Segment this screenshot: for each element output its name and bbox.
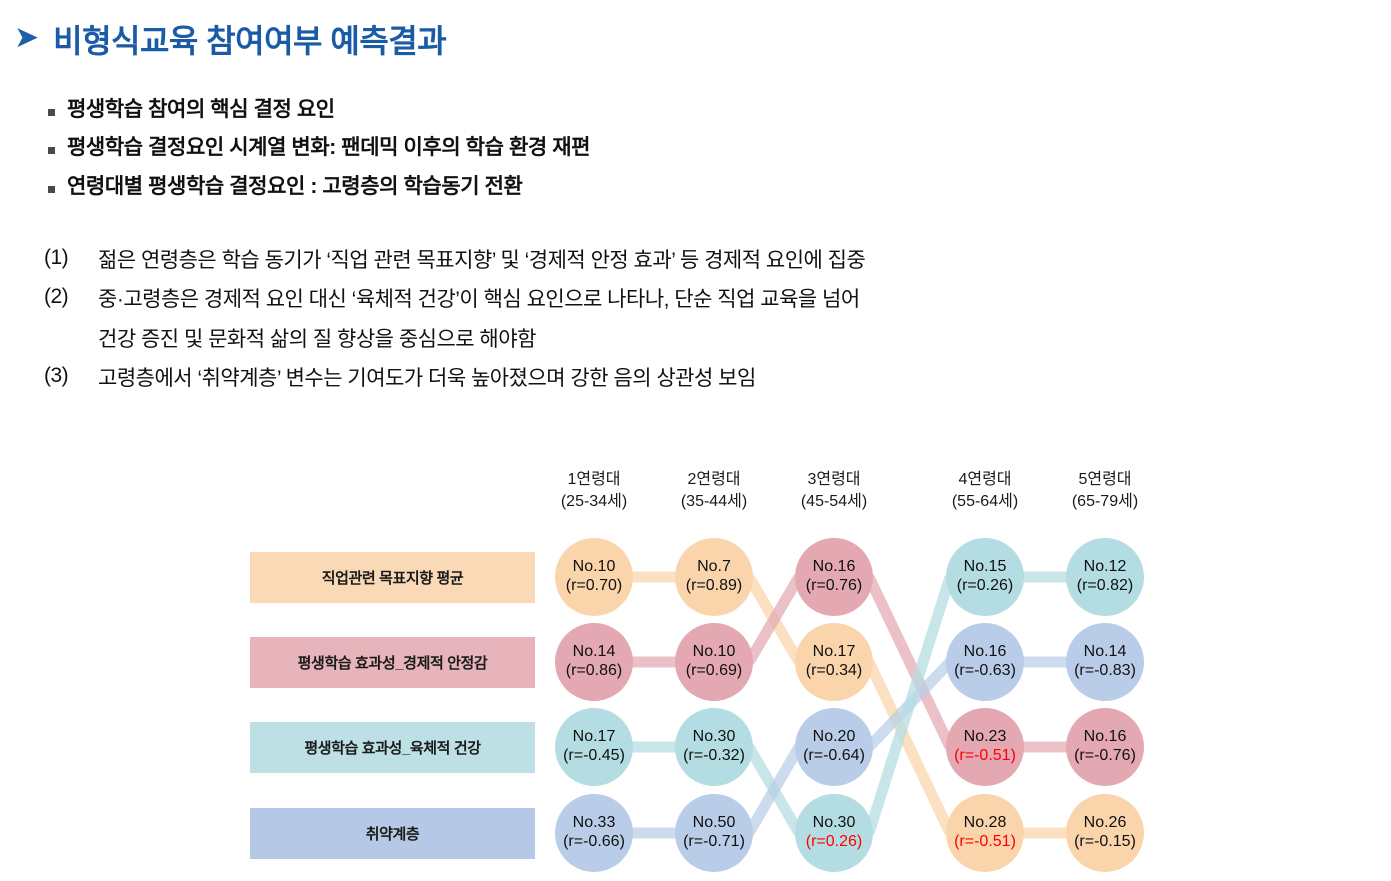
factor-node-id: No.14 <box>573 643 616 662</box>
factor-node[interactable]: No.7(r=0.89) <box>675 538 753 616</box>
factor-node-id: No.30 <box>693 728 736 747</box>
row-label-1: 직업관련 목표지향 평균 <box>250 552 535 603</box>
bullet-item: 평생학습 결정요인 시계열 변화: 팬데믹 이후의 학습 환경 재편 <box>48 134 1378 161</box>
row-label-4: 취약계층 <box>250 808 535 859</box>
factor-node-id: No.15 <box>964 558 1007 577</box>
page-title-text: 비형식교육 참여여부 예측결과 <box>53 16 446 62</box>
factor-node-id: No.26 <box>1084 814 1127 833</box>
factor-node-id: No.12 <box>1084 558 1127 577</box>
square-bullet-icon <box>48 147 55 154</box>
factor-node-correlation: (r=0.82) <box>1077 577 1133 596</box>
numbered-item-text: 고령층에서 ‘취약계층’ 변수는 기여도가 더욱 높아졌으며 강한 음의 상관성… <box>98 364 756 394</box>
factor-node-correlation: (r=0.26) <box>806 833 862 852</box>
factor-node[interactable]: No.20(r=-0.64) <box>795 708 873 786</box>
factor-node-correlation: (r=0.26) <box>957 577 1013 596</box>
factor-node-correlation: (r=-0.45) <box>563 747 625 766</box>
factor-node[interactable]: No.30(r=-0.32) <box>675 708 753 786</box>
column-header-5: 5연령대(65-79세) <box>1030 469 1180 512</box>
page-title: ➤ 비형식교육 참여여부 예측결과 <box>14 16 446 62</box>
factor-node[interactable]: No.16(r=-0.63) <box>946 623 1024 701</box>
bullet-text: 평생학습 참여의 핵심 결정 요인 <box>67 96 335 123</box>
bullet-text: 연령대별 평생학습 결정요인 : 고령층의 학습동기 전환 <box>67 173 522 200</box>
row-label-text: 평생학습 효과성_경제적 안정감 <box>298 652 488 673</box>
factor-node-id: No.50 <box>693 814 736 833</box>
row-label-text: 평생학습 효과성_육체적 건강 <box>304 737 480 758</box>
numbered-item-text: 젊은 연령층은 학습 동기가 ‘직업 관련 목표지향’ 및 ‘경제적 안정 효과… <box>98 246 865 276</box>
factor-node[interactable]: No.17(r=0.34) <box>795 623 873 701</box>
factor-node[interactable]: No.10(r=0.69) <box>675 623 753 701</box>
factor-node-id: No.30 <box>813 814 856 833</box>
factor-node-correlation: (r=0.76) <box>806 577 862 596</box>
factor-node[interactable]: No.16(r=0.76) <box>795 538 873 616</box>
numbered-list: (1) 젊은 연령층은 학습 동기가 ‘직업 관련 목표지향’ 및 ‘경제적 안… <box>44 246 1384 404</box>
factor-node-correlation: (r=-0.71) <box>683 833 745 852</box>
factor-node-id: No.16 <box>1084 728 1127 747</box>
row-label-text: 취약계층 <box>366 823 420 844</box>
numbered-item-index: (3) <box>44 364 84 388</box>
factor-node-id: No.16 <box>964 643 1007 662</box>
factor-node[interactable]: No.33(r=-0.66) <box>555 794 633 872</box>
factor-node[interactable]: No.28(r=-0.51) <box>946 794 1024 872</box>
factor-node-id: No.14 <box>1084 643 1127 662</box>
numbered-item-text: 건강 증진 및 문화적 삶의 질 향상을 중심으로 해야함 <box>98 325 536 355</box>
factor-node[interactable]: No.26(r=-0.15) <box>1066 794 1144 872</box>
factor-node[interactable]: No.50(r=-0.71) <box>675 794 753 872</box>
bullet-item: 연령대별 평생학습 결정요인 : 고령층의 학습동기 전환 <box>48 173 1378 200</box>
factor-node[interactable]: No.30(r=0.26) <box>795 794 873 872</box>
factor-node-id: No.33 <box>573 814 616 833</box>
factor-node-id: No.17 <box>573 728 616 747</box>
factor-node-correlation: (r=0.69) <box>686 662 742 681</box>
column-header-sublabel: (45-54세) <box>759 491 909 513</box>
factor-node-correlation: (r=0.34) <box>806 662 862 681</box>
numbered-item-index: (2) <box>44 285 84 309</box>
factor-node-id: No.23 <box>964 728 1007 747</box>
numbered-item-continuation: 건강 증진 및 문화적 삶의 질 향상을 중심으로 해야함 <box>44 325 1384 355</box>
factor-node[interactable]: No.12(r=0.82) <box>1066 538 1144 616</box>
factor-node-correlation: (r=-0.76) <box>1074 747 1136 766</box>
bullet-text: 평생학습 결정요인 시계열 변화: 팬데믹 이후의 학습 환경 재편 <box>67 134 590 161</box>
factor-node-id: No.28 <box>964 814 1007 833</box>
factor-node[interactable]: No.16(r=-0.76) <box>1066 708 1144 786</box>
factor-node[interactable]: No.15(r=0.26) <box>946 538 1024 616</box>
factor-node[interactable]: No.17(r=-0.45) <box>555 708 633 786</box>
row-label-3: 평생학습 효과성_육체적 건강 <box>250 722 535 773</box>
factor-node-correlation: (r=-0.51) <box>954 747 1016 766</box>
column-header-3: 3연령대(45-54세) <box>759 469 909 512</box>
factor-node-correlation: (r=-0.83) <box>1074 662 1136 681</box>
factor-node-correlation: (r=0.70) <box>566 577 622 596</box>
factor-node[interactable]: No.14(r=-0.83) <box>1066 623 1144 701</box>
factor-node-id: No.17 <box>813 643 856 662</box>
factor-node-correlation: (r=-0.51) <box>954 833 1016 852</box>
factor-node[interactable]: No.10(r=0.70) <box>555 538 633 616</box>
bullet-item: 평생학습 참여의 핵심 결정 요인 <box>48 96 1378 123</box>
numbered-item-text: 중·고령층은 경제적 요인 대신 ‘육체적 건강’이 핵심 요인으로 나타나, … <box>98 285 860 315</box>
factor-node-correlation: (r=-0.15) <box>1074 833 1136 852</box>
factor-node-id: No.10 <box>693 643 736 662</box>
factor-node[interactable]: No.23(r=-0.51) <box>946 708 1024 786</box>
factor-node-id: No.20 <box>813 728 856 747</box>
numbered-item: (1) 젊은 연령층은 학습 동기가 ‘직업 관련 목표지향’ 및 ‘경제적 안… <box>44 246 1384 276</box>
factor-node-id: No.16 <box>813 558 856 577</box>
factor-node-correlation: (r=-0.64) <box>803 747 865 766</box>
bullet-list: 평생학습 참여의 핵심 결정 요인 평생학습 결정요인 시계열 변화: 팬데믹 … <box>48 96 1378 211</box>
column-header-sublabel: (65-79세) <box>1030 491 1180 513</box>
numbered-item-index: (1) <box>44 246 84 270</box>
factor-node-correlation: (r=-0.63) <box>954 662 1016 681</box>
numbered-item: (3) 고령층에서 ‘취약계층’ 변수는 기여도가 더욱 높아졌으며 강한 음의… <box>44 364 1384 394</box>
square-bullet-icon <box>48 186 55 193</box>
row-label-text: 직업관련 목표지향 평균 <box>322 567 464 588</box>
factor-node-correlation: (r=-0.66) <box>563 833 625 852</box>
factor-node-id: No.10 <box>573 558 616 577</box>
factor-node-correlation: (r=0.86) <box>566 662 622 681</box>
row-label-2: 평생학습 효과성_경제적 안정감 <box>250 637 535 688</box>
numbered-item: (2) 중·고령층은 경제적 요인 대신 ‘육체적 건강’이 핵심 요인으로 나… <box>44 285 1384 315</box>
arrow-right-icon: ➤ <box>14 23 39 53</box>
factor-node-correlation: (r=0.89) <box>686 577 742 596</box>
factor-node-id: No.7 <box>697 558 731 577</box>
age-group-factor-diagram: 1연령대(25-34세)2연령대(35-44세)3연령대(45-54세)4연령대… <box>0 455 1391 881</box>
column-header-label: 3연령대 <box>759 469 909 491</box>
square-bullet-icon <box>48 109 55 116</box>
factor-node-correlation: (r=-0.32) <box>683 747 745 766</box>
factor-node[interactable]: No.14(r=0.86) <box>555 623 633 701</box>
column-header-label: 5연령대 <box>1030 469 1180 491</box>
